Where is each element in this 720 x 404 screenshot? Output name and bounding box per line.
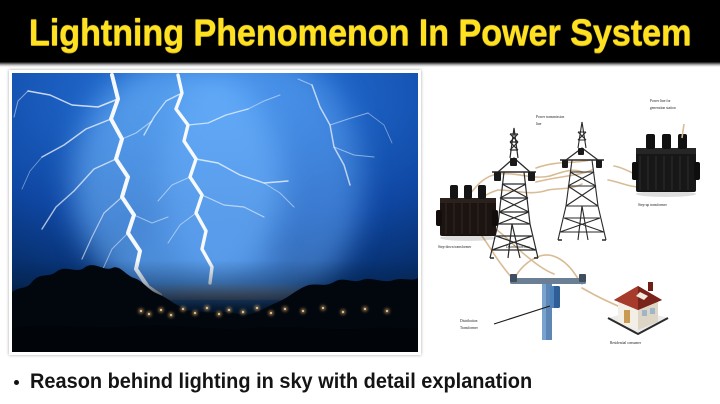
label-distribution-line: Distribution line [506,245,530,249]
lightning-photo [12,73,418,352]
distribution-pole-graphic [494,274,586,340]
residential-house-graphic [608,282,668,334]
slide-canvas: Lightning Phenomenon In Power System [0,0,720,404]
slide-title-bar: Lightning Phenomenon In Power System [0,0,720,62]
label-step-up-transformer: Step-up transformer [638,203,668,207]
label-power-line-generation-l1: Power line for [650,99,671,103]
lightning-photo-frame [9,70,421,355]
step-up-transformer-graphic [632,134,700,197]
caption-text: Reason behind lighting in sky with detai… [30,370,532,394]
slide-caption: Reason behind lighting in sky with detai… [0,360,720,404]
power-system-diagram-svg: Power line for generation station Power … [432,72,716,344]
label-power-transmission-line-l1: Power transmission [536,115,564,119]
treeline-silhouette-icon [12,232,418,352]
label-power-line-generation-l2: generation station [650,106,676,110]
label-distribution-transformer-l2: Transformer [460,326,479,330]
label-power-transmission-line-l2: line [536,122,542,126]
page-title: Lightning Phenomenon In Power System [29,14,691,51]
distant-city-lights [12,298,418,318]
bullet-icon [14,380,19,385]
label-residential-consumer: Residential consumer [610,341,642,344]
label-step-down-transformer: Step-down transformer [438,245,472,249]
label-distribution-transformer-l1: Distribution [460,319,478,323]
title-bar-shadow [0,62,720,67]
power-system-diagram: Power line for generation station Power … [432,72,716,344]
